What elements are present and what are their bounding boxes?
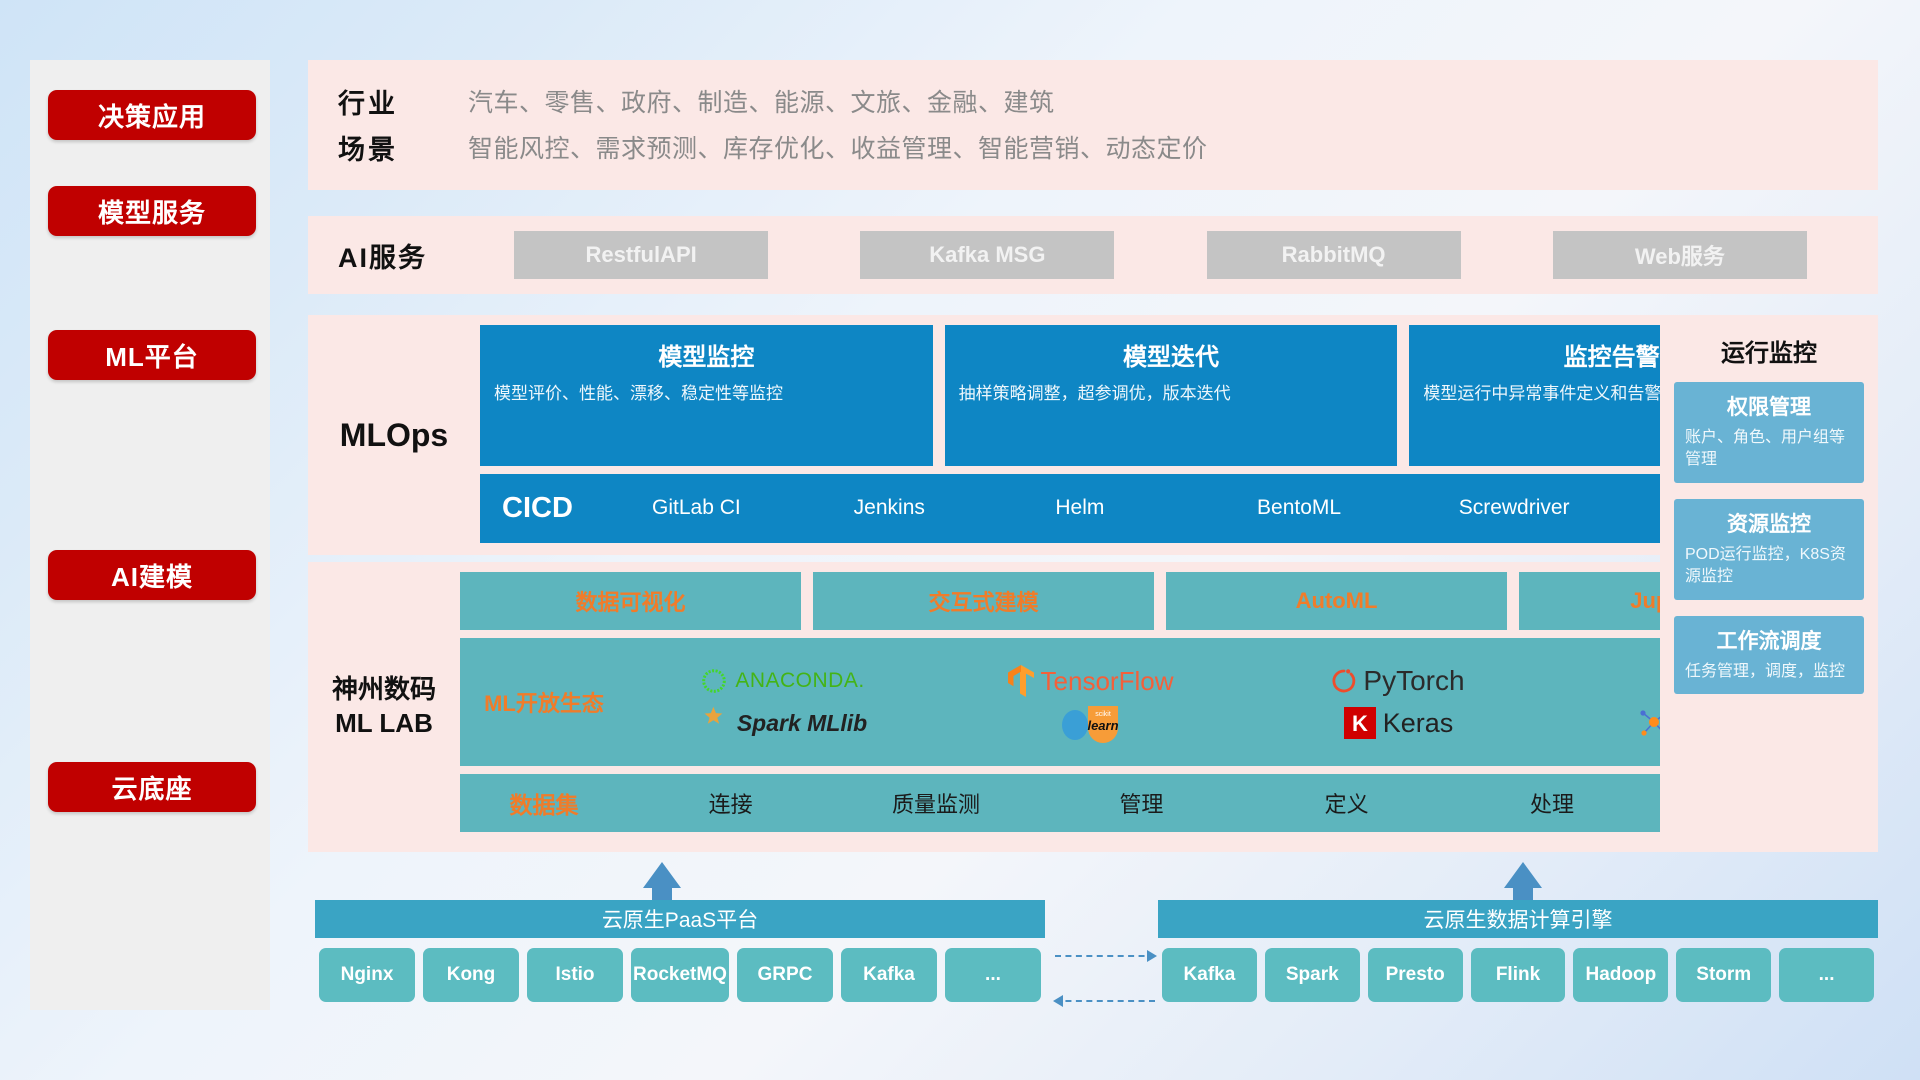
data-chip-hadoop[interactable]: Hadoop [1573,948,1668,1002]
ai-modeling-band: 神州数码 ML LAB 数据可视化 交互式建模 AutoML JupyterLa… [308,562,1878,852]
industry-scenario-band: 行业 汽车、零售、政府、制造、能源、文旅、金融、建筑 场景 智能风控、需求预测、… [308,60,1878,190]
dataset-item-process[interactable]: 处理 [1449,787,1654,819]
cloud-paas-group: 云原生PaaS平台 Nginx Kong Istio RocketMQ GRPC… [315,900,1045,1002]
dash-arrow-left-icon [1055,1000,1155,1002]
tensorflow-logo: TensorFlow [936,664,1244,698]
cicd-title: CICD [502,492,652,525]
ai-service-label: AI服务 [338,236,468,275]
arrow-up-data-engine-icon [1504,862,1542,888]
stage-pill-label: 云底座 [111,769,192,806]
ai-service-chip-web-service[interactable]: Web服务 [1553,231,1807,279]
stage-pill-model-service[interactable]: 模型服务 [48,186,256,236]
ml-lab-label-line1: 神州数码 [332,674,436,704]
dash-arrow-right-icon [1055,955,1155,957]
data-chip-spark[interactable]: Spark [1265,948,1360,1002]
tool-tab-data-visualization[interactable]: 数据可视化 [460,572,801,630]
cloud-chip-more[interactable]: ... [945,948,1041,1002]
modeling-tool-tabs: 数据可视化 交互式建模 AutoML JupyterLab [460,572,1860,630]
pytorch-logo-text: PyTorch [1363,665,1464,697]
scikit-learn-logo: scikit learn [936,702,1244,744]
monitoring-card-title: 资源监控 [1685,508,1853,538]
monitoring-card-resource[interactable]: 资源监控 POD运行监控，K8S资源监控 [1674,499,1864,600]
stage-pill-ai-modeling[interactable]: AI建模 [48,550,256,600]
dataset-item-manage[interactable]: 管理 [1039,787,1244,819]
monitoring-card-title: 权限管理 [1685,391,1853,421]
mlops-card-title: 模型迭代 [1123,337,1219,372]
mlops-card-model-iteration[interactable]: 模型迭代 抽样策略调整，超参调优，版本迭代 [945,325,1398,466]
ai-service-chip-restfulapi[interactable]: RestfulAPI [514,231,768,279]
data-chip-presto[interactable]: Presto [1368,948,1463,1002]
cloud-paas-title: 云原生PaaS平台 [315,900,1045,938]
monitoring-card-workflow[interactable]: 工作流调度 任务管理，调度，监控 [1674,616,1864,694]
tool-tab-interactive-modeling[interactable]: 交互式建模 [813,572,1154,630]
cloud-chip-rocketmq[interactable]: RocketMQ [631,948,729,1002]
cicd-item-screwdriver[interactable]: Screwdriver [1459,497,1661,519]
cloud-chip-kafka[interactable]: Kafka [841,948,937,1002]
mlops-card-title: 模型监控 [658,337,754,372]
mlops-card-desc: 抽样策略调整，超参调优，版本迭代 [959,382,1231,407]
data-chip-flink[interactable]: Flink [1471,948,1566,1002]
ai-service-chip-list: RestfulAPI Kafka MSG RabbitMQ Web服务 [468,231,1878,279]
anaconda-logo-text: ANACONDA. [735,669,864,693]
monitoring-card-permission[interactable]: 权限管理 账户、角色、用户组等管理 [1674,382,1864,483]
ml-lab-label-wrap: 神州数码 ML LAB [308,562,460,852]
cloud-data-engine-group: 云原生数据计算引擎 Kafka Spark Presto Flink Hadoo… [1158,900,1878,1002]
scenario-row: 场景 智能风控、需求预测、库存优化、收益管理、智能营销、动态定价 [338,124,1878,170]
monitoring-card-desc: 任务管理，调度，监控 [1685,661,1853,683]
architecture-diagram: 决策应用 模型服务 ML平台 AI建模 云底座 行业 汽车、零售、政府、制造、能… [0,0,1920,1080]
dataset-item-quality-monitoring[interactable]: 质量监测 [833,787,1038,819]
cloud-chip-istio[interactable]: Istio [527,948,623,1002]
dataset-item-define[interactable]: 定义 [1244,787,1449,819]
data-chip-more[interactable]: ... [1779,948,1874,1002]
ml-lab-label: 神州数码 ML LAB [332,673,436,741]
stage-pill-label: ML平台 [105,337,199,374]
dataset-bar: 数据集 连接 质量监测 管理 定义 处理 加载 [460,774,1860,832]
anaconda-logo: ANACONDA. [628,666,936,696]
cloud-paas-chip-list: Nginx Kong Istio RocketMQ GRPC Kafka ... [315,938,1045,1002]
mlops-card-model-monitoring[interactable]: 模型监控 模型评价、性能、漂移、稳定性等监控 [480,325,933,466]
svg-text:learn: learn [1087,718,1118,733]
keras-logo: K Keras [1244,706,1552,740]
scenario-value: 智能风控、需求预测、库存优化、收益管理、智能营销、动态定价 [468,129,1208,165]
mlops-card-list: 模型监控 模型评价、性能、漂移、稳定性等监控 模型迭代 抽样策略调整，超参调优，… [480,325,1862,466]
cicd-item-bentoml[interactable]: BentoML [1257,497,1459,519]
monitoring-card-desc: 账户、角色、用户组等管理 [1685,427,1853,472]
cloud-chip-grpc[interactable]: GRPC [737,948,833,1002]
runtime-monitoring-title: 运行监控 [1674,333,1864,368]
runtime-monitoring-column: 运行监控 权限管理 账户、角色、用户组等管理 资源监控 POD运行监控，K8S资… [1660,315,1878,852]
industry-value: 汽车、零售、政府、制造、能源、文旅、金融、建筑 [468,83,1055,119]
cicd-bar: CICD GitLab CI Jenkins Helm BentoML Scre… [480,474,1862,543]
arrow-up-paas-icon [643,862,681,888]
cloud-chip-nginx[interactable]: Nginx [319,948,415,1002]
dataset-label: 数据集 [460,786,628,820]
ai-service-chip-rabbitmq[interactable]: RabbitMQ [1207,231,1461,279]
cicd-item-gitlab-ci[interactable]: GitLab CI [652,497,854,519]
stage-pill-label: 决策应用 [98,97,206,134]
mlops-card-desc: 模型评价、性能、漂移、稳定性等监控 [494,382,783,407]
ai-service-chip-kafka-msg[interactable]: Kafka MSG [860,231,1114,279]
mlops-card-desc: 模型运行中异常事件定义和告警提醒 [1423,382,1695,407]
stage-pill-label: 模型服务 [98,193,206,230]
stage-pill-label: AI建模 [111,557,193,594]
industry-row: 行业 汽车、零售、政府、制造、能源、文旅、金融、建筑 [338,78,1878,124]
cicd-item-jenkins[interactable]: Jenkins [854,497,1056,519]
tool-tab-automl[interactable]: AutoML [1166,572,1507,630]
scenario-key: 场景 [338,128,468,167]
svg-text:K: K [1352,711,1368,736]
mlops-label-wrap: MLOps [308,315,480,555]
monitoring-card-title: 工作流调度 [1685,625,1853,655]
dataset-item-connect[interactable]: 连接 [628,787,833,819]
cloud-chip-kong[interactable]: Kong [423,948,519,1002]
stage-pill-ml-platform[interactable]: ML平台 [48,330,256,380]
cloud-data-engine-title: 云原生数据计算引擎 [1158,900,1878,938]
stage-pill-decision-app[interactable]: 决策应用 [48,90,256,140]
data-chip-storm[interactable]: Storm [1676,948,1771,1002]
industry-key: 行业 [338,82,468,121]
ml-lab-label-line2: ML LAB [335,708,433,738]
data-chip-kafka[interactable]: Kafka [1162,948,1257,1002]
tensorflow-logo-text: TensorFlow [1041,666,1174,697]
stage-pill-cloud-base[interactable]: 云底座 [48,762,256,812]
monitoring-card-desc: POD运行监控，K8S资源监控 [1685,544,1853,589]
ai-service-band: AI服务 RestfulAPI Kafka MSG RabbitMQ Web服务 [308,216,1878,294]
spark-mllib-logo: Spark MLlib [628,706,936,740]
spark-mllib-logo-text: Spark MLlib [737,710,867,737]
mlops-label: MLOps [340,417,448,454]
pytorch-logo: PyTorch [1244,665,1552,697]
mlops-band: MLOps 模型监控 模型评价、性能、漂移、稳定性等监控 模型迭代 抽样策略调整… [308,315,1878,555]
svg-text:scikit: scikit [1095,711,1111,718]
cloud-data-engine-chip-list: Kafka Spark Presto Flink Hadoop Storm ..… [1158,938,1878,1002]
keras-logo-text: Keras [1383,708,1454,739]
cicd-item-helm[interactable]: Helm [1055,497,1257,519]
ml-ecosystem-box: ML开放生态 ANACONDA. TensorFlow [460,638,1860,766]
ml-ecosystem-label: ML开放生态 [460,686,628,718]
